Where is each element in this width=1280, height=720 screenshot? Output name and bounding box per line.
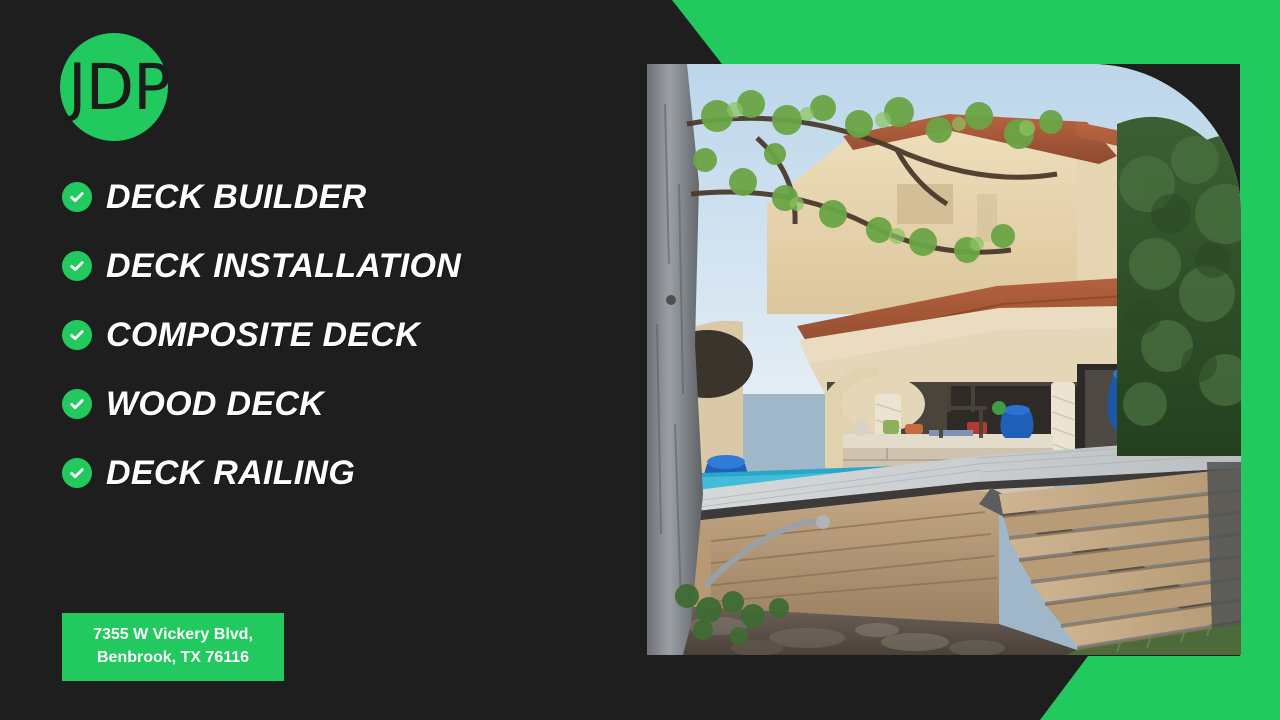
check-circle-icon: [62, 458, 92, 488]
left-content-column: JDP DECK BUILDER DECK INSTALLATION: [0, 0, 640, 720]
address-line-1: 7355 W Vickery Blvd,: [82, 624, 264, 647]
list-item: COMPOSITE DECK: [62, 316, 622, 354]
service-label: DECK INSTALLATION: [106, 249, 461, 283]
service-label: COMPOSITE DECK: [106, 318, 420, 352]
check-circle-icon: [62, 182, 92, 212]
check-circle-icon: [62, 389, 92, 419]
address-line-2: Benbrook, TX 76116: [82, 647, 264, 670]
check-circle-icon: [62, 320, 92, 350]
service-label: DECK BUILDER: [106, 180, 367, 214]
service-label: WOOD DECK: [106, 387, 324, 421]
service-label: DECK RAILING: [106, 456, 355, 490]
project-photo: [647, 64, 1241, 655]
address-badge: 7355 W Vickery Blvd, Benbrook, TX 76116: [62, 613, 284, 681]
list-item: DECK INSTALLATION: [62, 247, 622, 285]
list-item: DECK RAILING: [62, 454, 622, 492]
check-circle-icon: [62, 251, 92, 281]
list-item: DECK BUILDER: [62, 178, 622, 216]
list-item: WOOD DECK: [62, 385, 622, 423]
project-photo-illustration: [647, 64, 1241, 655]
logo-initials: JDP: [60, 33, 185, 141]
green-right-band: [1241, 0, 1280, 720]
services-list: DECK BUILDER DECK INSTALLATION COMPOSITE…: [62, 178, 622, 523]
